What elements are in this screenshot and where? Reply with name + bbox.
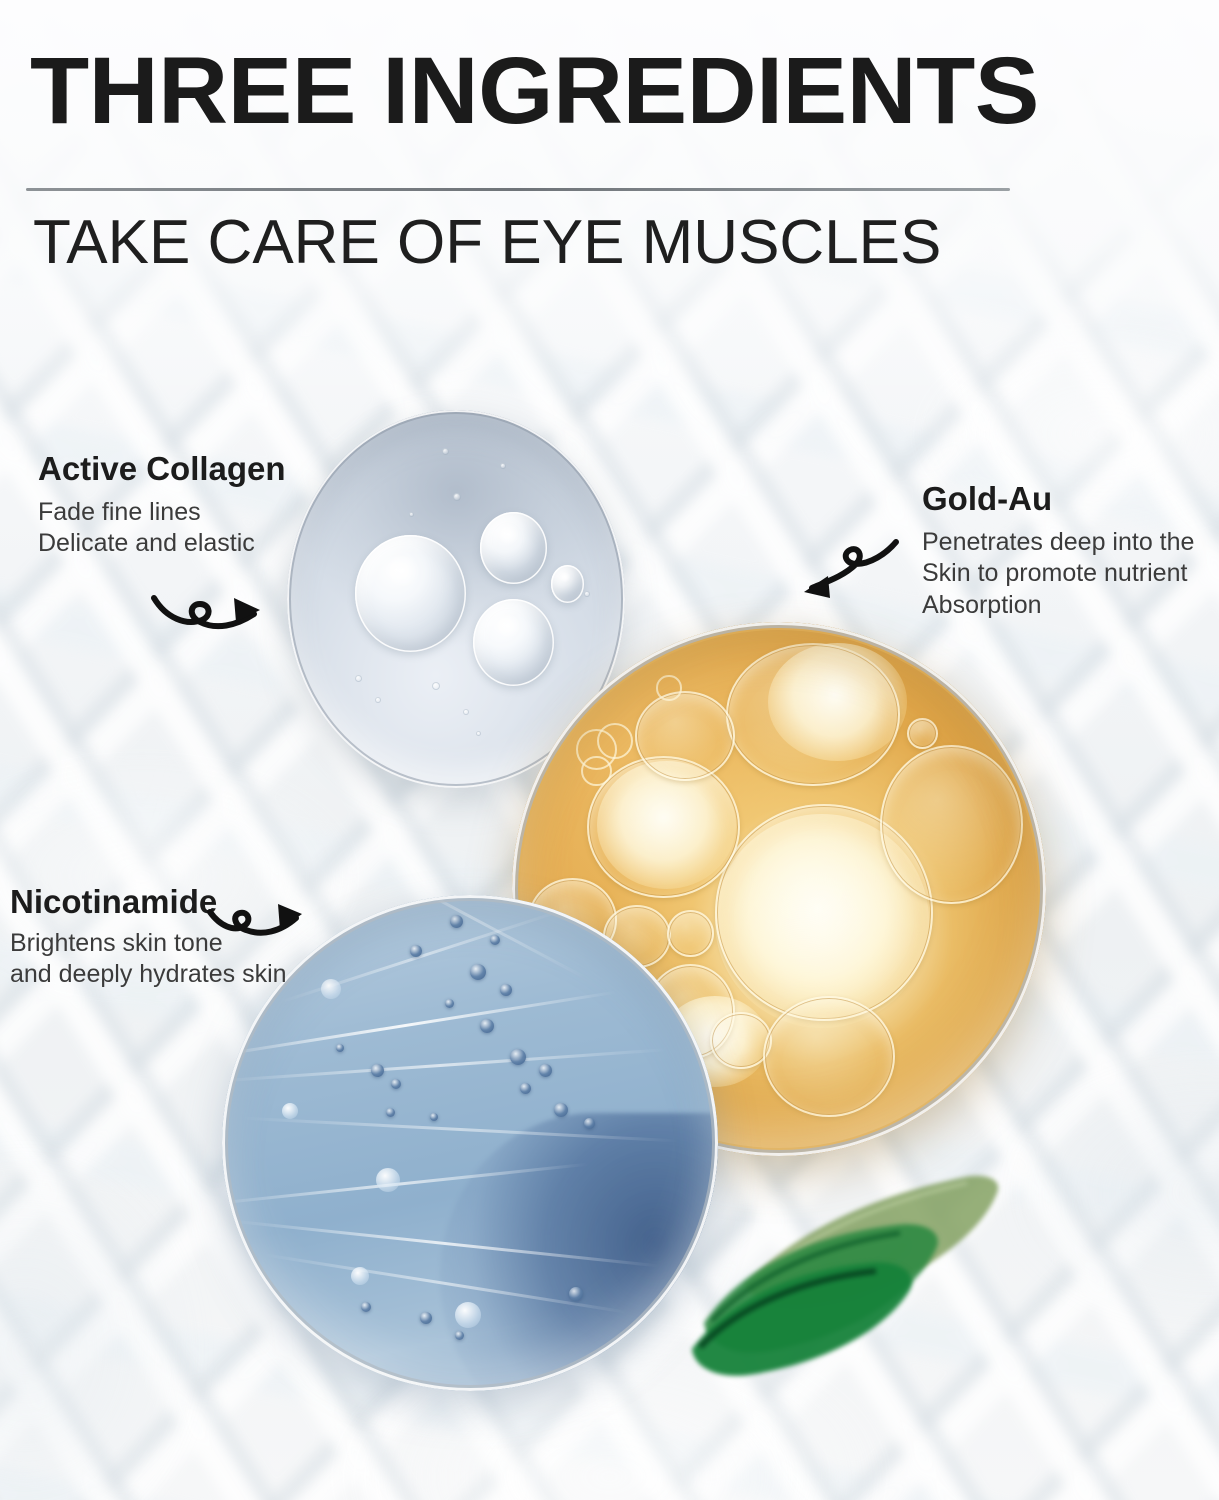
water-droplet [510, 1049, 526, 1065]
annotation-gold-au: Gold-Au Penetrates deep into the Skin to… [922, 482, 1194, 621]
infographic-page: THREE INGREDIENTS TAKE CARE OF EYE MUSCL… [0, 0, 1219, 1500]
water-droplet [336, 1044, 344, 1052]
oil-cluster-ring [597, 723, 633, 759]
gel-droplet-large [355, 535, 467, 652]
water-droplet [445, 999, 454, 1008]
annotation-line: Skin to promote nutrient [922, 558, 1194, 590]
water-droplet [430, 1113, 438, 1121]
water-droplet-light [455, 1302, 481, 1328]
micro-bubble [476, 731, 481, 736]
oil-bubble-small-upper [635, 691, 735, 780]
water-droplet [480, 1019, 494, 1033]
blue-hydration-disc [222, 895, 718, 1391]
water-droplet [520, 1083, 531, 1094]
gel-droplet-medium-2 [473, 599, 554, 686]
curly-arrow-right-icon [150, 576, 280, 644]
blue-deep-crescent [440, 1113, 718, 1391]
micro-bubble [355, 675, 362, 682]
annotation-title: Gold-Au [922, 482, 1194, 517]
water-droplet [371, 1064, 384, 1077]
water-droplet [391, 1079, 401, 1089]
annotation-body: Fade fine lines Delicate and elastic [38, 497, 286, 560]
micro-bubble [463, 709, 469, 715]
oil-bubble-top [726, 643, 901, 786]
water-droplet-light [282, 1103, 298, 1119]
annotation-line: and deeply hydrates skin [10, 959, 287, 991]
water-droplet [470, 964, 486, 980]
water-droplet-light [376, 1168, 400, 1192]
annotation-body: Penetrates deep into the Skin to promote… [922, 527, 1194, 622]
micro-bubble [409, 512, 414, 517]
oil-bubble-right [880, 745, 1023, 904]
curly-arrow-left-icon [790, 538, 902, 610]
annotation-title: Active Collagen [38, 452, 286, 487]
gel-droplet-medium [480, 512, 548, 584]
micro-bubble [375, 697, 381, 703]
page-subtitle: TAKE CARE OF EYE MUSCLES [33, 212, 941, 274]
gel-droplet-small [551, 565, 585, 603]
micro-bubble [432, 682, 440, 690]
green-leaf [690, 1245, 960, 1415]
water-droplet [569, 1287, 583, 1301]
oil-bubble-tiny [667, 910, 714, 957]
annotation-line: Fade fine lines [38, 497, 286, 529]
annotation-active-collagen: Active Collagen Fade fine lines Delicate… [38, 452, 286, 560]
title-divider [26, 188, 1010, 191]
oil-bubble-dot [907, 718, 938, 749]
water-droplet [500, 984, 512, 996]
annotation-line: Penetrates deep into the [922, 527, 1194, 559]
micro-bubble [453, 493, 461, 501]
water-streak [222, 1048, 668, 1083]
micro-bubble [442, 448, 449, 455]
water-droplet [410, 945, 422, 957]
water-droplet [539, 1064, 552, 1077]
water-droplet [361, 1302, 371, 1312]
annotation-line: Delicate and elastic [38, 528, 286, 560]
water-droplet-light [321, 979, 341, 999]
water-droplet [386, 1108, 395, 1117]
water-droplet [450, 915, 463, 928]
water-droplet-light [351, 1267, 369, 1285]
page-title: THREE INGREDIENTS [30, 44, 1039, 139]
annotation-line: Absorption [922, 590, 1194, 622]
micro-bubble [584, 591, 590, 597]
water-droplet [420, 1312, 432, 1324]
oil-cluster-ring [656, 675, 681, 700]
oil-bubble-lower-right [763, 996, 895, 1117]
oil-cluster-ring [581, 756, 612, 787]
water-droplet [490, 935, 500, 945]
micro-bubble [500, 463, 506, 469]
curly-arrow-right-icon [206, 896, 316, 956]
